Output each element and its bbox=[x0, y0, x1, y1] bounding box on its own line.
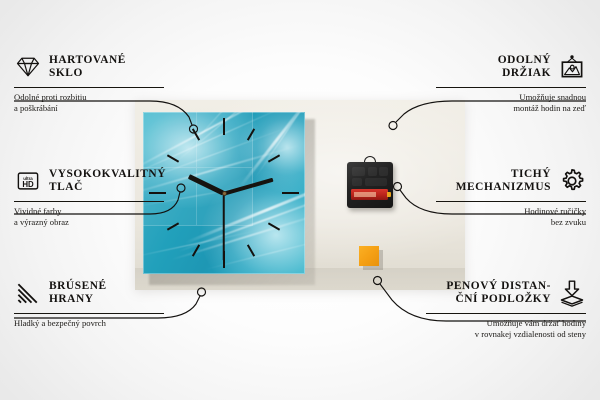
feature-desc-line1: Odolné proti rozbitiu bbox=[14, 92, 164, 103]
feature-silent-mechanism: TICHÝ MECHANIZMUS Hodinové ručičky bez z… bbox=[436, 164, 586, 227]
feature-durable-hanger: ODOLNÝ DRŽIAK Umožňuje snadnou montáž ho… bbox=[436, 50, 586, 113]
product-photo bbox=[135, 100, 465, 290]
feature-title-line1: PENOVÝ DISTAN- bbox=[426, 280, 551, 293]
feature-desc-line2: bez zvuku bbox=[436, 217, 586, 228]
feature-desc-line1: Umožňuje snadnou bbox=[436, 92, 586, 103]
picture-frame-hanging-icon bbox=[558, 53, 586, 81]
feature-title-line2: DRŽIAK bbox=[436, 67, 551, 80]
arrow-down-stack-icon bbox=[558, 279, 586, 307]
feature-desc-line1: Hladký a bezpečný povrch bbox=[14, 318, 164, 329]
diagonal-lines-icon bbox=[14, 279, 42, 307]
feature-high-quality-print: ultra HD VYSOKOKVALITNÝ TLAČ Vividné far… bbox=[14, 164, 164, 227]
mechanism-body bbox=[347, 162, 393, 208]
feature-title-line2: HRANY bbox=[49, 293, 107, 306]
clock-center-hub bbox=[222, 191, 227, 196]
divider bbox=[14, 201, 164, 202]
divider bbox=[436, 201, 586, 202]
feature-tempered-glass: HARTOVANÉ SKLO Odolné proti rozbitiu a p… bbox=[14, 50, 164, 113]
divider bbox=[436, 87, 586, 88]
divider bbox=[14, 87, 164, 88]
gear-icon bbox=[558, 167, 586, 195]
clock-face bbox=[143, 112, 305, 274]
mechanism-battery bbox=[351, 189, 388, 200]
feature-desc-line2: a výrazný obraz bbox=[14, 217, 164, 228]
feature-title-line2: SKLO bbox=[49, 67, 126, 80]
feature-title-line1: BRÚSENÉ bbox=[49, 280, 107, 293]
feature-title-line2: MECHANIZMUS bbox=[436, 181, 551, 194]
infographic-stage: HARTOVANÉ SKLO Odolné proti rozbitiu a p… bbox=[0, 0, 600, 400]
divider bbox=[14, 313, 164, 314]
feature-title-line2: ČNÍ PODLOŽKY bbox=[426, 293, 551, 306]
feature-ground-edges: BRÚSENÉ HRANY Hladký a bezpečný povrch bbox=[14, 276, 164, 329]
feature-title-line2: TLAČ bbox=[49, 181, 166, 194]
svg-text:HD: HD bbox=[22, 180, 34, 189]
foam-spacer-pad bbox=[359, 246, 381, 268]
feature-title-line1: HARTOVANÉ bbox=[49, 54, 126, 67]
feature-desc-line2: v rovnakej vzdialenosti od steny bbox=[426, 329, 586, 340]
feature-desc-line1: Vividné farby bbox=[14, 206, 164, 217]
wall-clock bbox=[143, 112, 309, 278]
feature-title-line1: TICHÝ bbox=[436, 168, 551, 181]
clock-marker bbox=[223, 118, 225, 135]
feature-title-line1: VYSOKOKVALITNÝ bbox=[49, 168, 166, 181]
feature-foam-spacers: PENOVÝ DISTAN- ČNÍ PODLOŽKY Umožňuje vám… bbox=[426, 276, 586, 339]
clock-second-hand bbox=[223, 193, 225, 261]
feature-desc-line1: Umožňuje vám držať hodiny bbox=[426, 318, 586, 329]
clock-marker bbox=[282, 192, 299, 194]
ultra-hd-icon: ultra HD bbox=[14, 167, 42, 195]
clock-mechanism bbox=[347, 162, 393, 208]
feature-desc-line2: a poškrábání bbox=[14, 103, 164, 114]
divider bbox=[426, 313, 586, 314]
feature-desc-line2: montáž hodin na zeď bbox=[436, 103, 586, 114]
feature-title-line1: ODOLNÝ bbox=[436, 54, 551, 67]
feature-desc-line1: Hodinové ručičky bbox=[436, 206, 586, 217]
diamond-icon bbox=[14, 53, 42, 81]
